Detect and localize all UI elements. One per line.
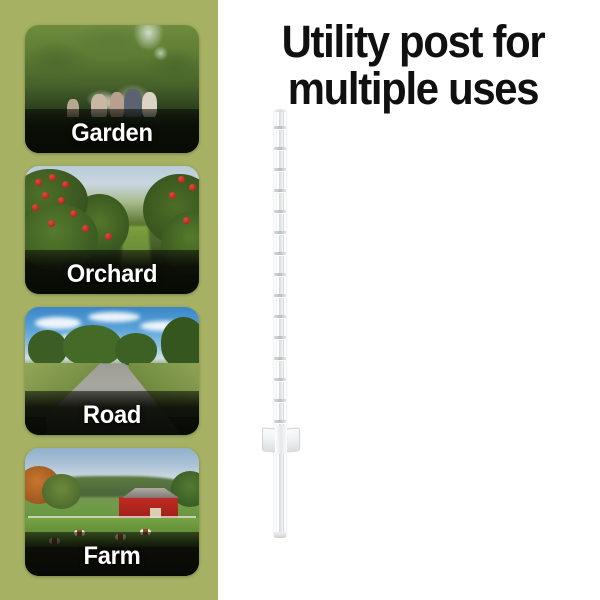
cloud: [35, 317, 80, 329]
orchard-apple: [70, 210, 77, 217]
use-case-sidebar: Garden: [0, 0, 218, 600]
use-case-card-orchard[interactable]: Orchard: [25, 166, 199, 294]
post-notch: [274, 399, 286, 402]
post-notch: [274, 231, 286, 234]
post-notch: [274, 210, 286, 213]
post-notch: [274, 357, 286, 360]
post-shaft: [274, 112, 286, 536]
use-case-label: Road: [29, 399, 194, 431]
page-title: Utility post for multiple uses: [245, 18, 582, 112]
garden-sky-gap: [133, 25, 164, 51]
foot-plate-wing-right: [285, 427, 300, 452]
product-marketing-image: Garden: [0, 0, 600, 600]
orchard-apple: [62, 181, 69, 188]
use-case-label: Orchard: [29, 258, 194, 290]
post-foot-plate: [262, 428, 300, 452]
foot-plate-hub: [275, 426, 287, 454]
orchard-apple: [42, 192, 49, 199]
roadside-tree: [63, 325, 122, 366]
use-case-card-road[interactable]: Road: [25, 307, 199, 435]
post-notch: [274, 378, 286, 381]
post-notch: [274, 252, 286, 255]
post-notch: [274, 273, 286, 276]
tree: [42, 474, 80, 510]
cloud: [88, 312, 140, 322]
post-notch: [274, 294, 286, 297]
utility-post-image: [218, 112, 600, 542]
orchard-apple: [58, 197, 65, 204]
post-notch: [274, 420, 286, 423]
roadside-tree: [161, 317, 199, 368]
orchard-apple: [105, 233, 112, 240]
use-case-card-garden[interactable]: Garden: [25, 25, 199, 153]
use-case-label: Farm: [29, 540, 194, 572]
post-notch: [274, 126, 286, 129]
post-notch: [274, 168, 286, 171]
use-case-label: Garden: [29, 117, 194, 149]
use-case-card-farm[interactable]: Farm: [25, 448, 199, 576]
orchard-apple: [48, 220, 55, 227]
product-panel: Utility post for multiple uses: [218, 0, 600, 600]
headline-line-2: multiple uses: [245, 65, 582, 112]
post-notch: [274, 147, 286, 150]
post-notch: [274, 189, 286, 192]
roadside-tree: [28, 330, 66, 366]
orchard-apple: [189, 184, 196, 191]
post-notch: [274, 336, 286, 339]
orchard-apple: [169, 192, 176, 199]
roadside-tree: [115, 333, 157, 366]
headline-line-1: Utility post for: [245, 18, 582, 65]
post-ground-tip: [274, 532, 286, 538]
post-notch: [274, 315, 286, 318]
